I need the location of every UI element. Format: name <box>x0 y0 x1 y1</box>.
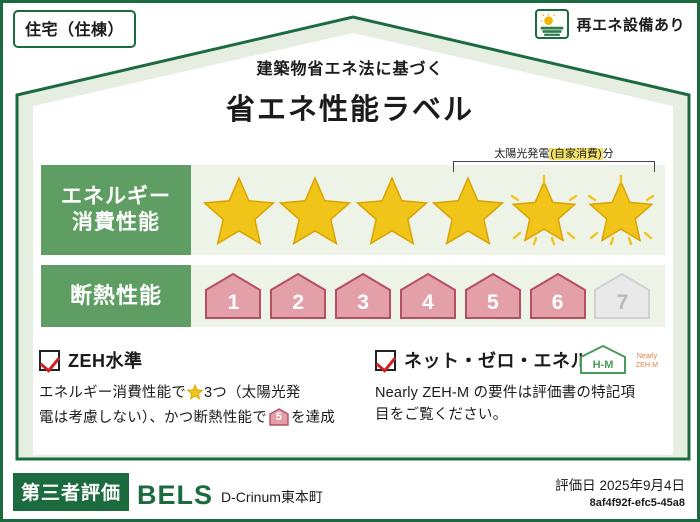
insulation-performance-row: 断熱性能 1 2 3 4 <box>41 265 665 327</box>
star-filled-2 <box>277 174 353 246</box>
zeh-body-text-2: 3つ（太陽光発 <box>204 385 300 401</box>
svg-text:H-M: H-M <box>593 359 614 371</box>
net-zero-energy-block: ネット・ゼロ・エネルギー H-M Nearly ZEH-M Nearly ZEH… <box>353 347 667 430</box>
insulation-level-2-number: 2 <box>292 291 304 320</box>
insulation-level-4: 4 <box>399 272 457 320</box>
insulation-level-6: 6 <box>529 272 587 320</box>
check-icon-zeh <box>39 350 60 371</box>
zeh-body-text-1: エネルギー消費性能で <box>39 385 186 401</box>
page-title: 省エネ性能ラベル <box>3 86 697 128</box>
insulation-level-7-number: 7 <box>617 291 629 320</box>
insulation-level-4-number: 4 <box>422 291 434 320</box>
zeh-body-text-3: 電は考慮しない）、かつ断熱性能で <box>39 410 267 426</box>
mini-house-icon: 5 <box>269 408 289 426</box>
footer-bar: 第三者評価 BELS D-Crinum東本町 評価日 2025年9月4日 8af… <box>3 457 697 519</box>
insulation-level-1-number: 1 <box>228 291 240 320</box>
insulation-level-3-number: 3 <box>357 291 369 320</box>
star-filled-3 <box>354 174 430 246</box>
house-type-badge: 住宅（住棟） <box>13 10 136 48</box>
solar-note-highlight: (自家消費) <box>549 148 602 160</box>
solar-note-bracket <box>453 161 655 172</box>
nearly-zeh-m-logo: H-M Nearly ZEH-M <box>573 343 665 377</box>
insulation-level-6-number: 6 <box>552 291 564 320</box>
zeh-body-text-4: を達成 <box>291 410 335 426</box>
evaluation-date-value: 2025年9月4日 <box>599 478 685 493</box>
energy-label-card: 住宅（住棟） 再エネ設備あり 建築物省エ <box>0 0 700 522</box>
energy-performance-label: エネルギー 消費性能 <box>41 165 191 255</box>
net-zero-body-line1: Nearly ZEH-M の要件は評価書の特記項 <box>375 385 635 401</box>
zeh-criteria-title: ZEH水準 <box>68 347 143 373</box>
renewable-badge-label: 再エネ設備あり <box>576 14 685 35</box>
svg-text:Nearly: Nearly <box>637 353 658 360</box>
evaluation-date: 評価日 2025年9月4日 <box>555 474 685 494</box>
svg-text:ZEH-M: ZEH-M <box>636 362 658 369</box>
insulation-level-1: 1 <box>204 272 262 320</box>
insulation-levels-area: 1 2 3 4 5 <box>191 265 665 327</box>
solar-note: 太陽光発電(自家消費)分 <box>449 145 659 161</box>
footer-left-group: 第三者評価 BELS D-Crinum東本町 <box>13 473 323 511</box>
star-solar-6 <box>583 174 659 246</box>
solar-panel-icon <box>535 9 569 39</box>
solar-note-suffix: 分 <box>603 148 614 160</box>
insulation-level-5-number: 5 <box>487 291 499 320</box>
title-block: 建築物省エネ法に基づく 省エネ性能ラベル <box>3 55 697 128</box>
star-solar-5 <box>506 174 582 246</box>
insulation-level-2: 2 <box>269 272 327 320</box>
evaluation-id: 8af4f92f-efc5-45a8 <box>555 497 685 509</box>
insulation-performance-label: 断熱性能 <box>41 265 191 327</box>
net-zero-head: ネット・ゼロ・エネルギー H-M Nearly ZEH-M <box>375 347 667 373</box>
solar-note-prefix: 太陽光発電 <box>494 148 549 160</box>
star-filled-1 <box>201 174 277 246</box>
star-filled-4 <box>430 174 506 246</box>
renewable-equipment-badge: 再エネ設備あり <box>535 9 685 39</box>
mini-star-icon <box>187 384 203 407</box>
insulation-level-3: 3 <box>334 272 392 320</box>
zeh-criteria-head: ZEH水準 <box>39 347 353 373</box>
zeh-criteria-body: エネルギー消費性能で3つ（太陽光発 電は考慮しない）、かつ断熱性能で5を達成 <box>39 382 353 430</box>
mini-house-level: 5 <box>269 409 289 426</box>
header-bar: 住宅（住棟） 再エネ設備あり <box>3 3 697 59</box>
criteria-section: ZEH水準 エネルギー消費性能で3つ（太陽光発 電は考慮しない）、かつ断熱性能で… <box>39 347 667 430</box>
third-party-eval-badge: 第三者評価 <box>13 473 129 511</box>
energy-performance-row: エネルギー 消費性能 太陽光発電(自家消費)分 <box>41 165 665 255</box>
insulation-level-7: 7 <box>593 272 651 320</box>
energy-label-line2: 消費性能 <box>72 210 160 236</box>
energy-stars-area: 太陽光発電(自家消費)分 <box>191 165 665 255</box>
zeh-criteria-block: ZEH水準 エネルギー消費性能で3つ（太陽光発 電は考慮しない）、かつ断熱性能で… <box>39 347 353 430</box>
star-rating <box>195 165 665 255</box>
bels-logo: BELS <box>137 482 213 511</box>
evaluation-date-label: 評価日 <box>555 478 596 493</box>
insulation-level-scale: 1 2 3 4 5 <box>191 265 665 327</box>
check-icon-net-zero <box>375 350 396 371</box>
energy-label-line1: エネルギー <box>61 184 171 210</box>
title-subtitle: 建築物省エネ法に基づく <box>3 55 697 79</box>
building-name: D-Crinum東本町 <box>221 487 323 511</box>
net-zero-body: Nearly ZEH-M の要件は評価書の特記項 目をご覧ください。 <box>375 382 667 427</box>
footer-right-group: 評価日 2025年9月4日 8af4f92f-efc5-45a8 <box>555 474 685 509</box>
net-zero-body-line2: 目をご覧ください。 <box>375 407 507 423</box>
insulation-level-5: 5 <box>464 272 522 320</box>
